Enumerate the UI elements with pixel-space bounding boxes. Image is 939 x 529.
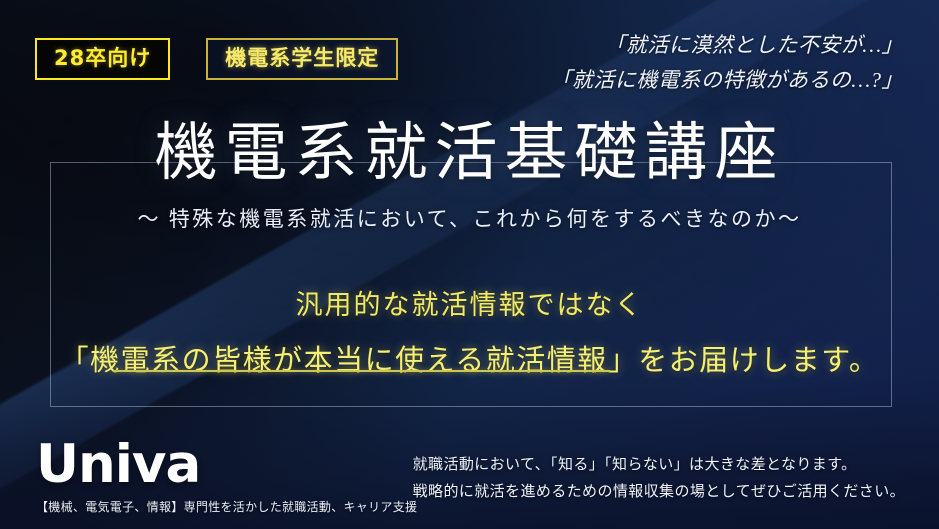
page-title: 機電系就活基礎講座 (0, 118, 939, 189)
emphasis-underline (113, 370, 610, 372)
promo-banner: 28卒向け 機電系学生限定 「就活に漠然とした不安が…」 「就活に機電系の特徴が… (0, 0, 939, 529)
footer-note: 就職活動において、「知る」「知らない」は大きな差となります。 戦略的に就活を進め… (413, 452, 905, 508)
footer-note-line-2: 戦略的に就活を進めるための情報収集の場としてぜひご活用ください。 (413, 479, 905, 507)
footer-note-line-1: 就職活動において、「知る」「知らない」は大きな差となります。 (413, 452, 905, 480)
hero-subtitle: 〜 特殊な機電系就活において、これから何をするべきなのか〜 (0, 203, 939, 233)
quote-line-2: 「就活に機電系の特徴があるの…?」 (550, 63, 903, 98)
badge-graduation-year: 28卒向け (35, 38, 170, 80)
brand-logo-block: Univa 【機械、電気電子、情報】専門性を活かした就職活動、キャリア支援 (36, 438, 417, 515)
emphasis-line-1: 汎用的な就活情報ではなく (0, 283, 939, 322)
quote-line-1: 「就活に漠然とした不安が…」 (550, 28, 903, 63)
hero-title-block: 機電系就活基礎講座 〜 特殊な機電系就活において、これから何をするべきなのか〜 (0, 118, 939, 233)
pain-point-quotes: 「就活に漠然とした不安が…」 「就活に機電系の特徴があるの…?」 (550, 28, 903, 97)
univa-logo: Univa (36, 438, 417, 491)
badge-row: 28卒向け 機電系学生限定 (35, 38, 398, 80)
brand-tagline: 【機械、電気電子、情報】専門性を活かした就職活動、キャリア支援 (36, 498, 417, 515)
hero-emphasis-block: 汎用的な就活情報ではなく 「機電系の皆様が本当に使える就活情報」をお届けします。 (0, 283, 939, 379)
emphasis-line-2: 「機電系の皆様が本当に使える就活情報」をお届けします。 (0, 337, 939, 379)
badge-target-audience: 機電系学生限定 (206, 38, 398, 80)
